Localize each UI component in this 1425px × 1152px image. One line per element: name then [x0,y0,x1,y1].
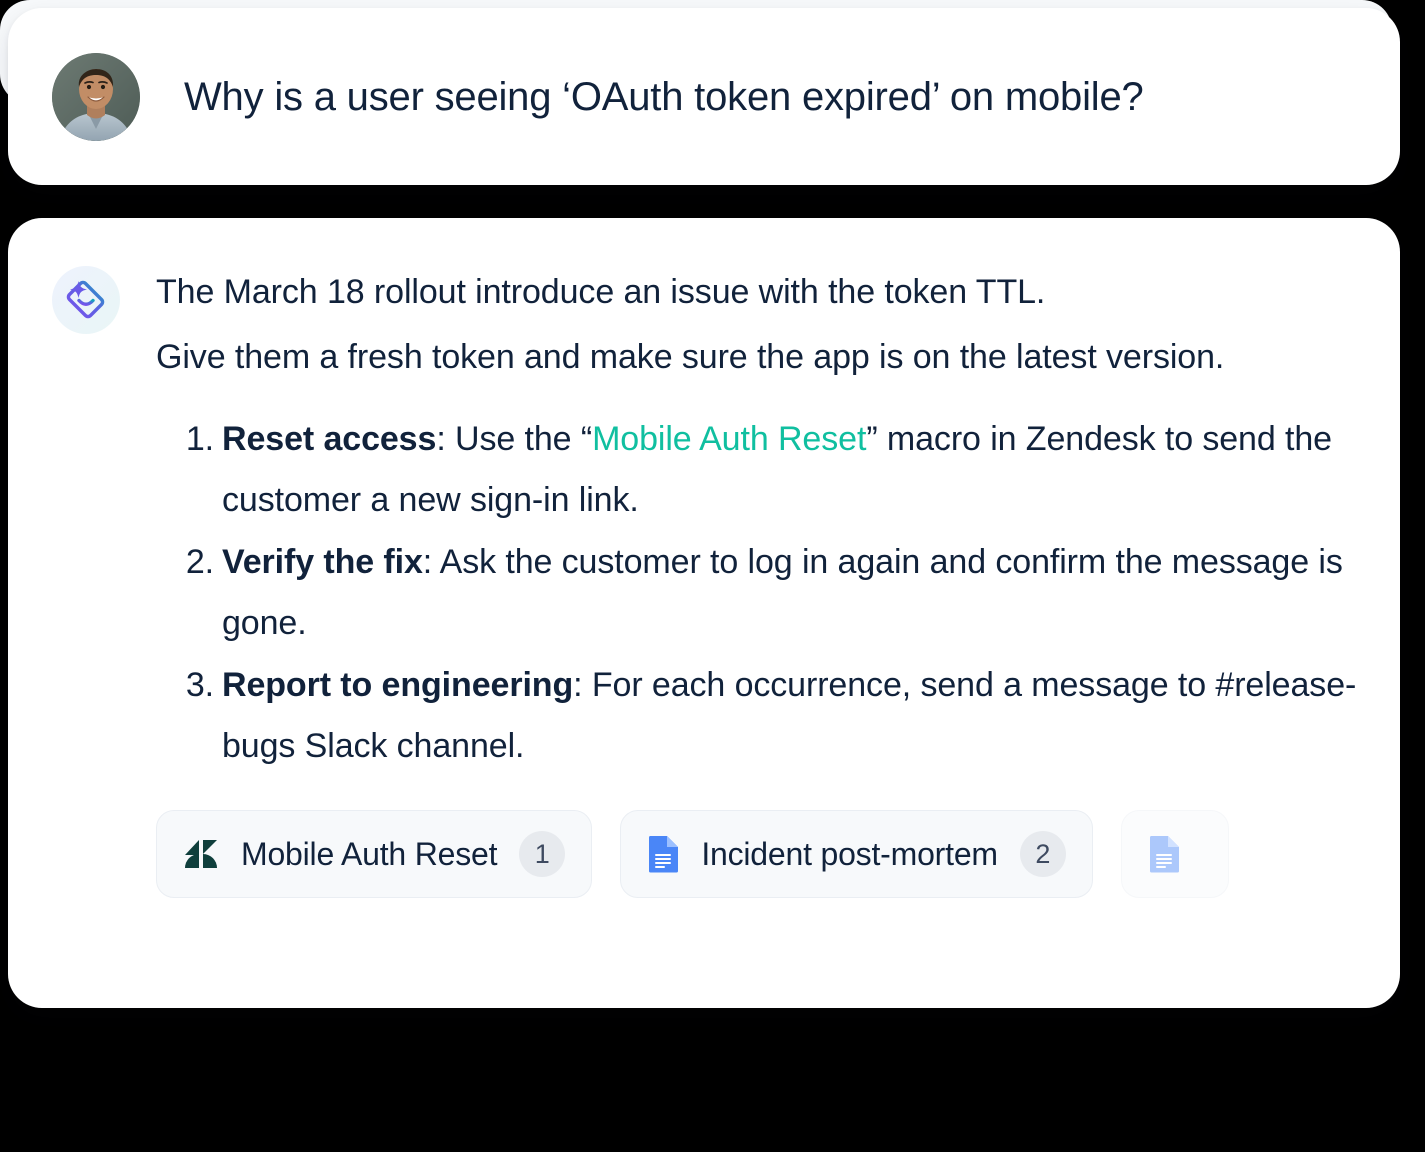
source-chip-label: Mobile Auth Reset [241,836,497,873]
mobile-auth-reset-link[interactable]: Mobile Auth Reset [592,420,866,458]
user-avatar-photo [52,53,140,141]
answer-step-2: Verify the fix: Ask the customer to log … [222,532,1360,653]
step-1-separator: : [436,420,455,458]
source-chip-count: 2 [1020,831,1066,877]
answer-paragraph-1: The March 18 rollout introduce an issue … [156,262,1360,323]
answer-paragraph-2: Give them a fresh token and make sure th… [156,327,1360,388]
step-3-lead: Report to engineering [222,666,573,704]
source-chip-overflow[interactable] [1121,810,1229,898]
source-chip-count: 1 [519,831,565,877]
assistant-answer-body: The March 18 rollout introduce an issue … [156,262,1360,978]
ai-sparkle-chat-icon [52,266,120,334]
step-2-lead: Verify the fix [222,543,423,581]
conversation-stage: Why is a user seeing ‘OAuth token expire… [0,0,1425,1152]
assistant-message-card: The March 18 rollout introduce an issue … [8,218,1400,1008]
zendesk-icon [183,836,219,872]
source-chip-mobile-auth-reset[interactable]: Mobile Auth Reset 1 [156,810,592,898]
step-2-separator: : [423,543,440,581]
step-1-text-before-link: Use the “ [455,420,592,458]
source-chip-label: Incident post-mortem [701,836,998,873]
source-chip-row[interactable]: Mobile Auth Reset 1 [156,810,1360,898]
google-docs-icon [1148,835,1180,873]
step-3-separator: : [573,666,592,704]
source-chip-incident-post-mortem[interactable]: Incident post-mortem 2 [620,810,1093,898]
google-docs-icon [647,835,679,873]
user-message-card: Why is a user seeing ‘OAuth token expire… [8,8,1400,185]
answer-step-3: Report to engineering: For each occurren… [222,655,1360,776]
user-question-text: Why is a user seeing ‘OAuth token expire… [184,72,1144,122]
step-1-lead: Reset access [222,420,436,458]
answer-step-1: Reset access: Use the “Mobile Auth Reset… [222,409,1360,530]
answer-step-list: Reset access: Use the “Mobile Auth Reset… [156,409,1360,776]
